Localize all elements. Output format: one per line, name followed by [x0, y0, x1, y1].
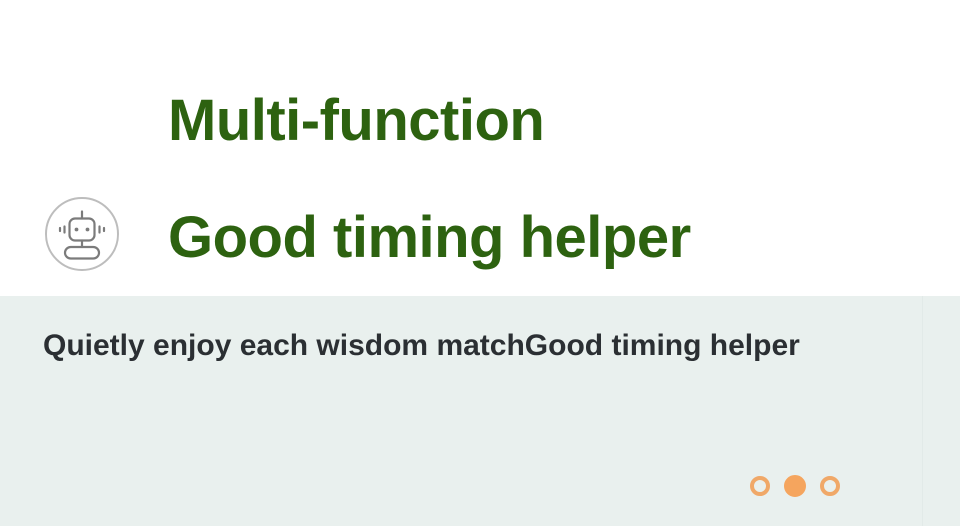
page-title-line-2: Good timing helper: [168, 179, 928, 296]
panel-edge-divider: [922, 296, 923, 526]
subtitle-band: Quietly enjoy each wisdom matchGood timi…: [0, 296, 960, 526]
robot-avatar-icon: [43, 195, 121, 273]
carousel-dot-3[interactable]: [820, 476, 840, 496]
carousel-dot-2[interactable]: [784, 475, 806, 497]
page-title: Multi-function Good timing helper: [168, 62, 928, 296]
carousel-dots[interactable]: [750, 475, 840, 497]
carousel-dot-1[interactable]: [750, 476, 770, 496]
page-title-line-1: Multi-function: [168, 62, 928, 179]
promo-banner: Multi-function Good timing helper Quietl…: [0, 0, 960, 526]
hero-section: Multi-function Good timing helper: [0, 0, 960, 296]
subtitle-text: Quietly enjoy each wisdom matchGood timi…: [43, 326, 800, 366]
